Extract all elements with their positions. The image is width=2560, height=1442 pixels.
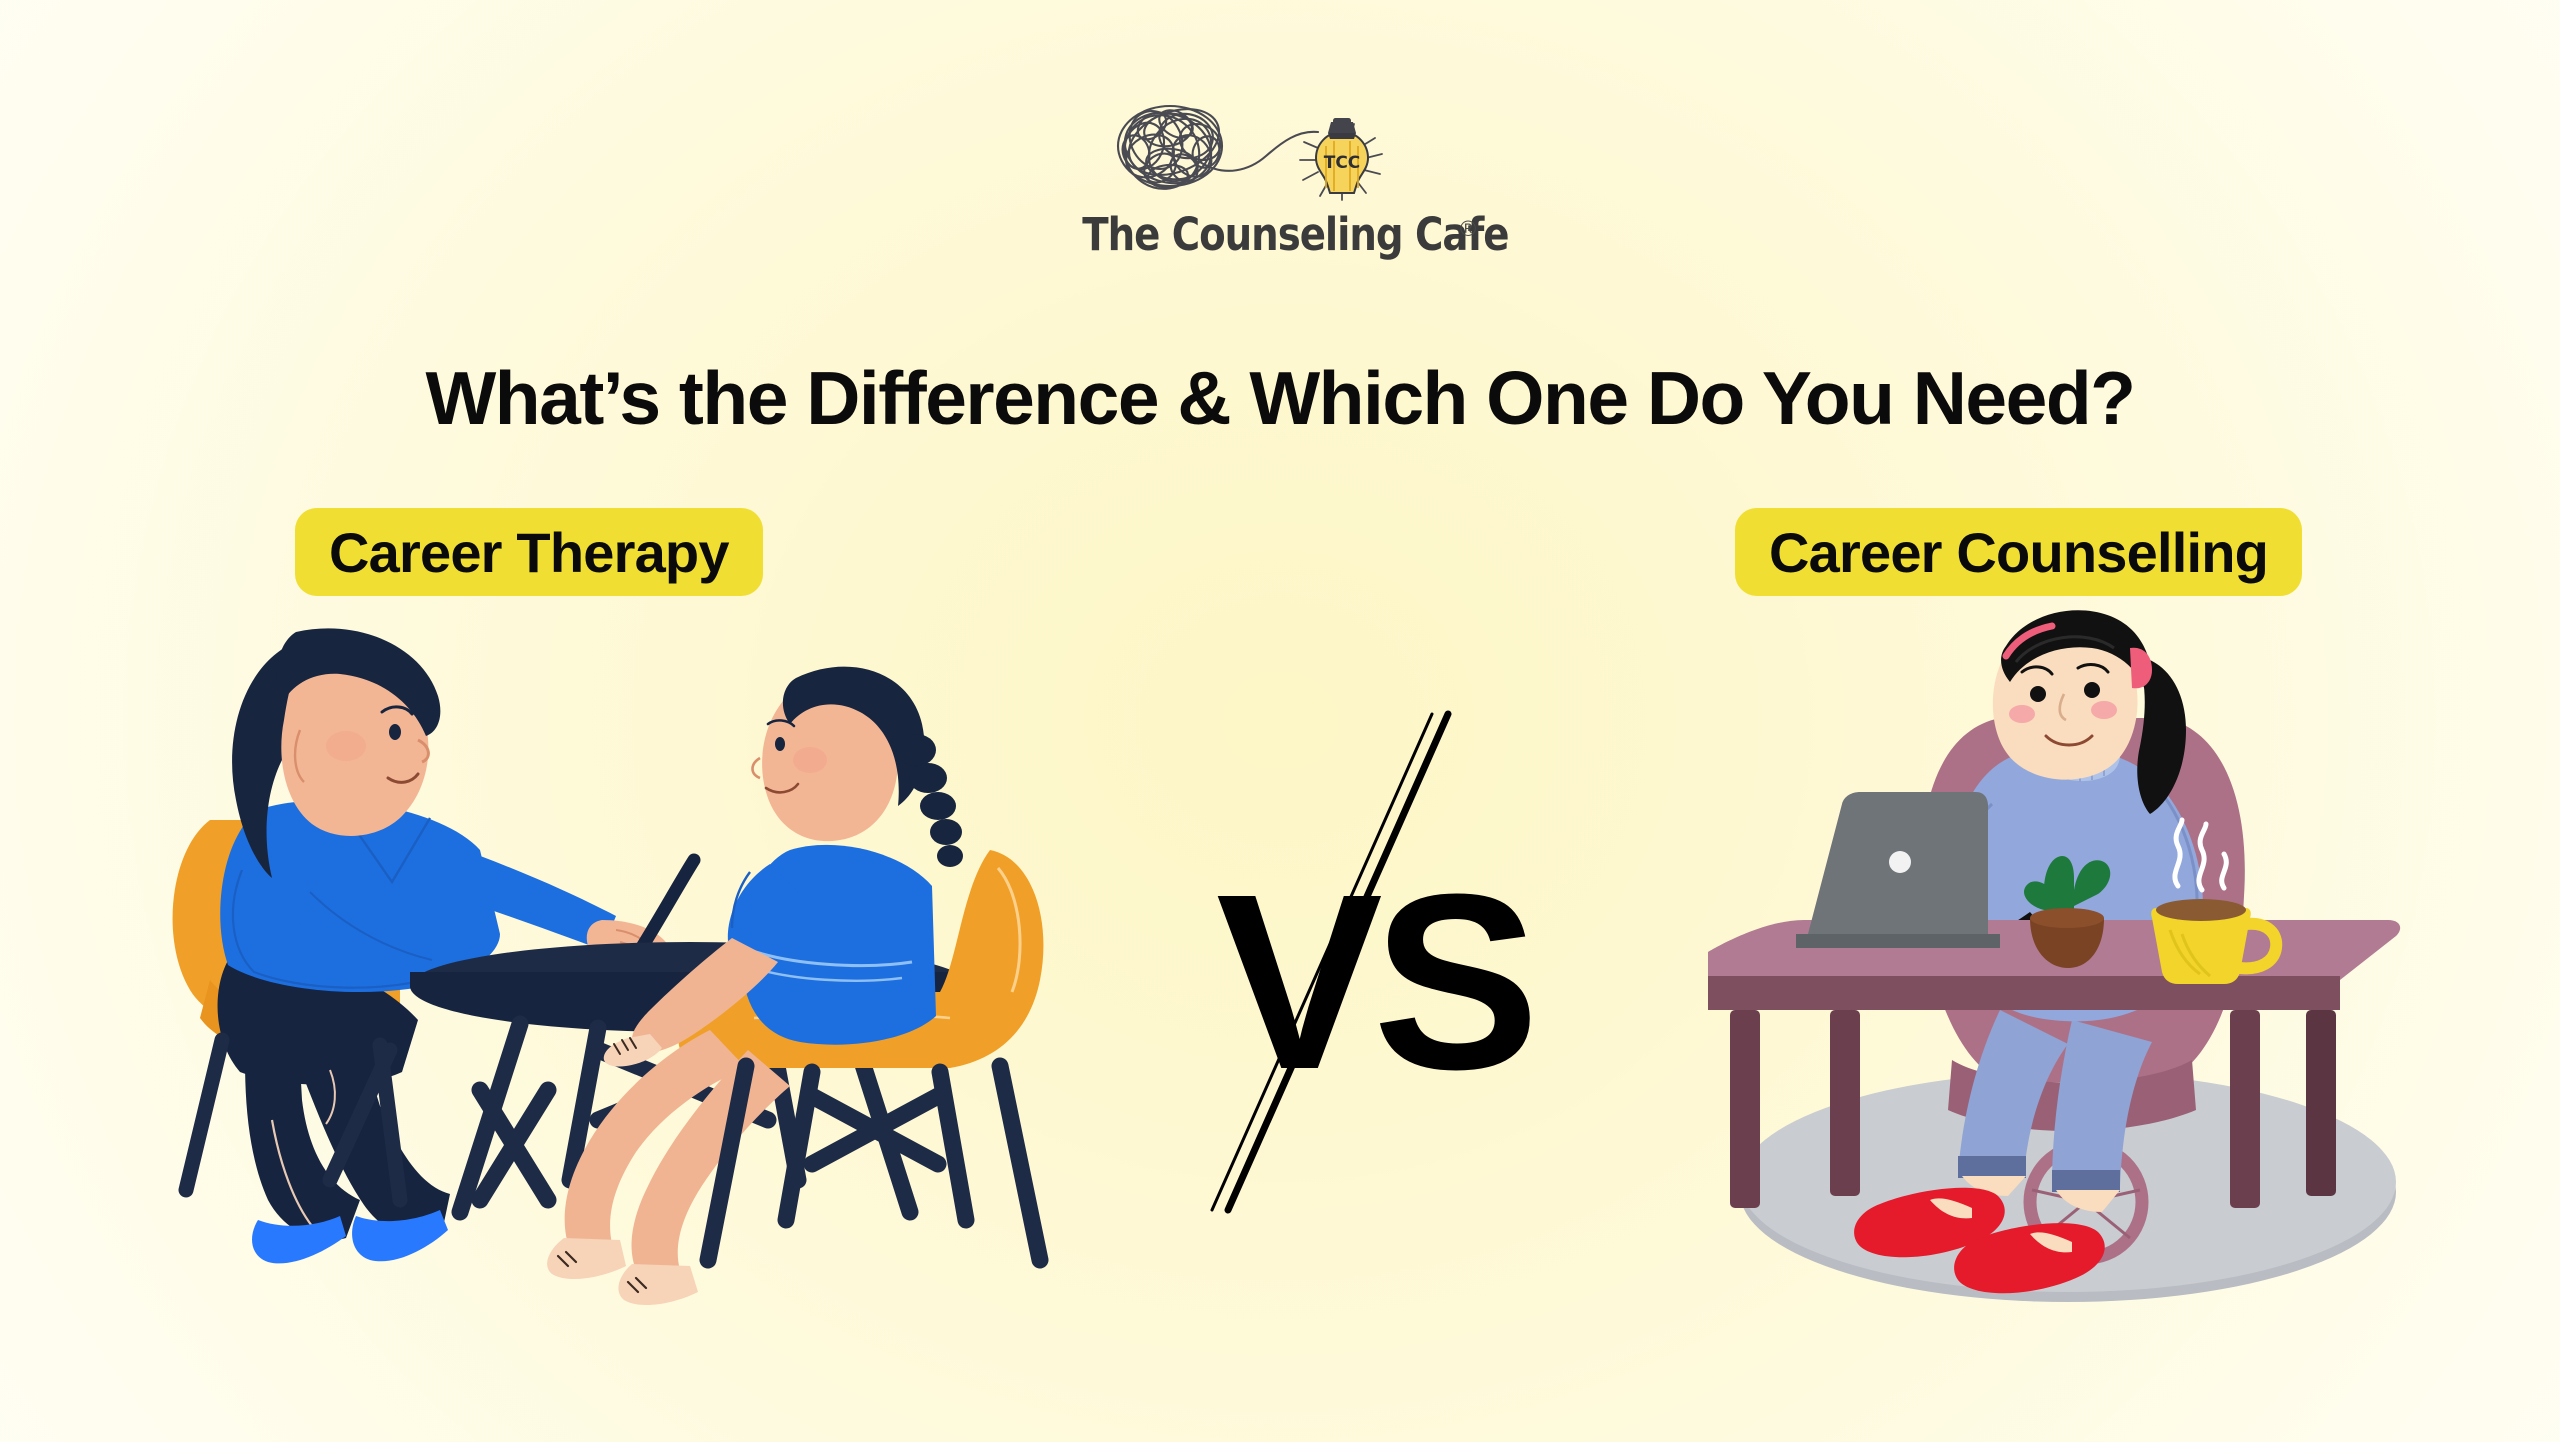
registered-trademark-mark: ® (1460, 216, 1476, 242)
brand-logo: TCC The Counseling Cafe ® (1050, 96, 1510, 296)
badge-career-therapy: Career Therapy (295, 508, 763, 596)
laptop-logo (1889, 851, 1911, 873)
tangled-thread-icon (1110, 97, 1318, 204)
lightbulb-icon: TCC (1300, 118, 1382, 200)
blush (326, 731, 366, 761)
bulb-initials-text: TCC (1324, 153, 1361, 173)
career-therapy-illustration (150, 620, 1180, 1340)
counselling-scene-svg (1700, 590, 2440, 1310)
poster-canvas: TCC The Counseling Cafe ® What’s the Dif… (0, 0, 2560, 1442)
laptop (1796, 792, 2000, 948)
career-counselling-illustration (1700, 590, 2440, 1310)
braid (896, 734, 963, 867)
badge-career-counselling: Career Counselling (1735, 508, 2302, 596)
brand-wordmark: The Counseling Cafe (1082, 208, 1478, 261)
therapy-scene-svg (150, 620, 1180, 1340)
versus-graphic: VS (1180, 690, 1540, 1230)
page-headline: What’s the Difference & Which One Do You… (0, 355, 2560, 441)
coffee-surface (2156, 899, 2246, 921)
